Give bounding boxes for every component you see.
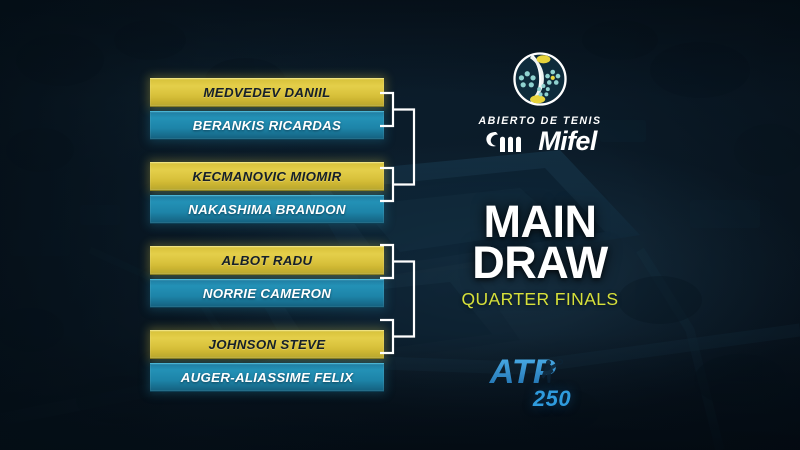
bracket-list: MEDVEDEV DANIIL BERANKIS RICARDAS KECMAN… (150, 78, 384, 392)
player-name: JOHNSON STEVE (209, 338, 326, 351)
player-name: MEDVEDEV DANIIL (203, 86, 330, 99)
player-row[interactable]: ALBOT RADU (150, 246, 384, 275)
atp-logo: ATP 250 (488, 352, 592, 412)
event-panel: ABIERTO DE TENIS Mifel MAIN DRAW QUARTER… (452, 50, 628, 412)
player-name: KECMANOVIC MIOMIR (192, 170, 341, 183)
player-row[interactable]: NORRIE CAMERON (150, 279, 384, 308)
player-row[interactable]: JOHNSON STEVE (150, 330, 384, 359)
player-row[interactable]: KECMANOVIC MIOMIR (150, 162, 384, 191)
player-row[interactable]: AUGER-ALIASSIME FELIX (150, 363, 384, 392)
match-slot-pair: MEDVEDEV DANIIL BERANKIS RICARDAS (150, 78, 384, 140)
player-row[interactable]: BERANKIS RICARDAS (150, 111, 384, 140)
player-row[interactable]: NAKASHIMA BRANDON (150, 195, 384, 224)
match-slot-pair: ALBOT RADU NORRIE CAMERON (150, 246, 384, 308)
mifel-wave-icon (483, 129, 533, 155)
player-name: ALBOT RADU (222, 254, 313, 267)
round-label: QUARTER FINALS (462, 289, 619, 310)
player-name: BERANKIS RICARDAS (193, 119, 341, 132)
mifel-logo: Mifel (483, 128, 597, 155)
player-name: NAKASHIMA BRANDON (188, 203, 346, 216)
bracket-connectors (380, 70, 444, 380)
title-line-2: DRAW (462, 242, 619, 283)
player-name: NORRIE CAMERON (203, 287, 331, 300)
mifel-wordmark: Mifel (538, 128, 597, 155)
player-row[interactable]: MEDVEDEV DANIIL (150, 78, 384, 107)
main-draw-title: MAIN DRAW QUARTER FINALS (462, 201, 619, 310)
tennis-ball-icon (511, 50, 569, 108)
match-slot-pair: KECMANOVIC MIOMIR NAKASHIMA BRANDON (150, 162, 384, 224)
player-name: AUGER-ALIASSIME FELIX (181, 371, 354, 384)
atp-tier-label: 250 (533, 386, 571, 412)
match-slot-pair: JOHNSON STEVE AUGER-ALIASSIME FELIX (150, 330, 384, 392)
